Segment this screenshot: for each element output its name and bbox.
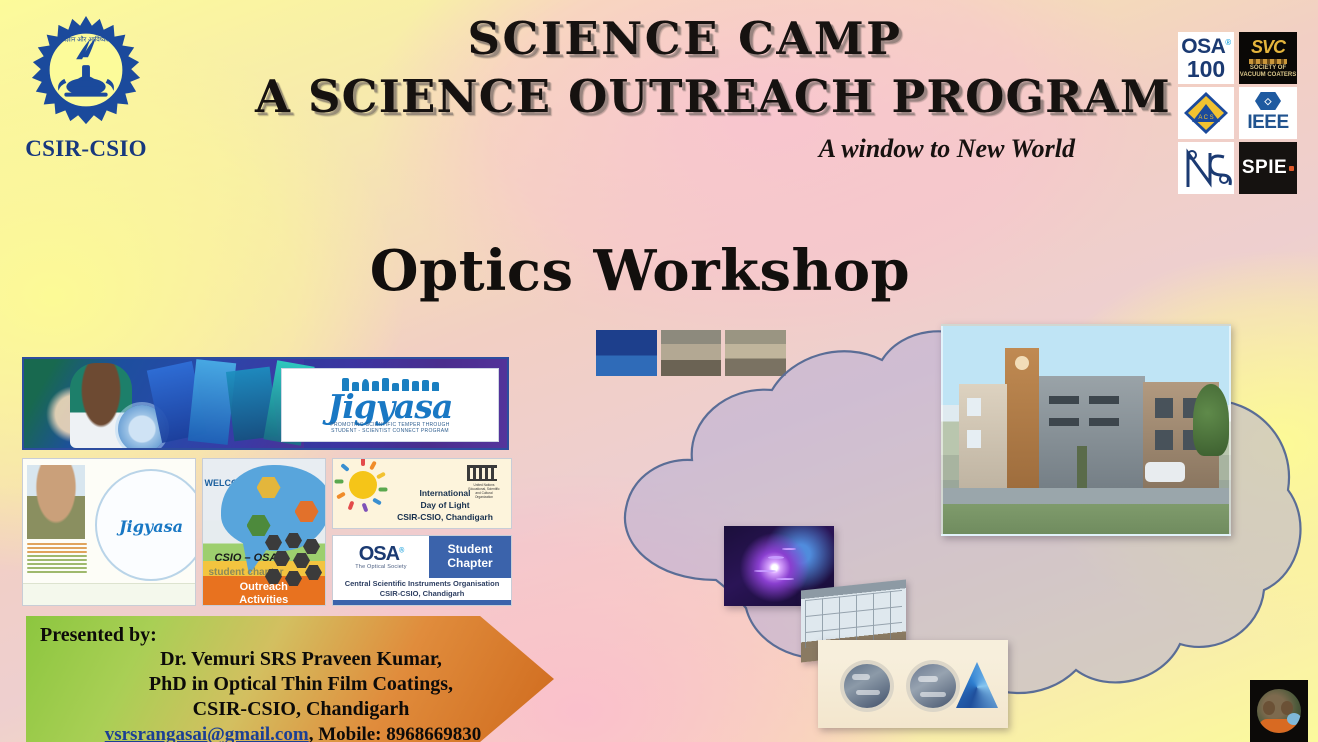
slide-canvas: CSIR INDIA विज्ञान और आविष्कार CSIR-CSIO… [0,0,1318,742]
corner-thumbnail-image [1257,689,1301,733]
presenter-mobile: , Mobile: 8968669830 [309,724,482,742]
idl-caption: International Day of Light CSIR-CSIO, Ch… [383,488,507,524]
right-tile-column: United Nations Educational, Scientific a… [332,458,512,606]
osa-student-chapter-card: OSA® The Optical Society Student Chapter… [332,535,512,606]
right-lens [906,660,960,712]
people-hex-cluster [265,533,323,589]
welcomes-vertical-label: WELCOMES [205,477,219,489]
presenter-affiliation: CSIR-CSIO, Chandigarh [40,697,540,722]
svg-text:CSIR INDIA: CSIR INDIA [67,107,104,114]
nks-logo [1178,142,1234,194]
ieee-diamond-icon: ◇ [1255,92,1281,110]
jigyasa-logo-box: Jigyasa PROMOTING SCIENTIFIC TEMPER THRO… [281,368,499,442]
collage-tiles: Jigyasa WELCOMES CSIO – OSA student chap… [22,458,512,606]
mou-footer-bar [23,583,195,605]
left-lens [840,660,894,712]
international-day-of-light-card: United Nations Educational, Scientific a… [332,458,512,529]
acs-diamond-logo: A C S [1178,87,1234,139]
dignitary-photo [27,465,85,539]
ieee-logo: ◇ IEEE [1239,87,1297,139]
mou-text-lines [27,543,87,575]
csir-csio-label: CSIR-CSIO [16,136,156,162]
presenter-contact: vsrsrangasai@gmail.com, Mobile: 89686698… [40,723,540,742]
jigyasa-mou-poster: Jigyasa [22,458,196,606]
csir-csio-gear-logo: CSIR INDIA विज्ञान और आविष्कार [27,12,145,134]
spie-logo: SPIE [1239,142,1297,194]
osa-subtitle: The Optical Society [355,564,407,570]
presented-by-label: Presented by: [40,624,540,647]
mou-jigyasa-wordmark: Jigyasa [107,517,195,536]
presenter-corner-thumbnail [1250,680,1308,742]
osa-card-top: OSA® The Optical Society Student Chapter [333,536,511,578]
science-camp-title: SCIENCE CAMP [255,16,1115,62]
left-image-collage: Jigyasa PROMOTING SCIENTIFIC TEMPER THRO… [22,357,512,606]
thought-cloud-photo-collage [596,330,1318,742]
svg-text:विज्ञान और आविष्कार: विज्ञान और आविष्कार [61,36,112,44]
svg-text:A C S: A C S [1198,115,1213,121]
jigyasa-wordmark: Jigyasa [328,391,453,422]
jigyasa-banner: Jigyasa PROMOTING SCIENTIFIC TEMPER THRO… [22,357,509,450]
presenter-email-link[interactable]: vsrsrangasai@gmail.com [105,724,309,742]
unesco-temple-icon [467,465,497,481]
svc-logo: SVC SOCIETY OF VACUUM COATERS [1239,32,1297,84]
program-title: A SCIENCE OUTREACH PROGRAM [255,74,1115,120]
svc-divider [1249,59,1287,64]
osa-brand-block: OSA® The Optical Society [333,536,429,578]
student-chapter-heading: Student Chapter [429,536,511,578]
title-block: SCIENCE CAMP A SCIENCE OUTREACH PROGRAM … [255,16,1115,164]
prism-icon [956,662,998,708]
csio-osa-outreach-poster: WELCOMES CSIO – OSA student chapter Outr… [202,458,327,606]
partner-logos: OSA® 100 SVC SOCIETY OF VACUUM COATERS A… [1178,32,1304,194]
presenter-name: Dr. Vemuri SRS Praveen Kumar, [40,647,540,672]
spie-dot-icon [1289,166,1294,171]
sun-icon [349,471,377,499]
osa-100-logo: OSA® 100 [1178,32,1234,84]
osa-card-footer: Central Scientific Instruments Organisat… [333,578,511,600]
jigyasa-tagline-2: STUDENT - SCIENTIST CONNECT PROGRAM [331,428,449,434]
tagline: A window to New World [255,134,1115,164]
presenter-info-banner: Presented by: Dr. Vemuri SRS Praveen Kum… [26,616,554,742]
presenter-qualification: PhD in Optical Thin Film Coatings, [40,672,540,697]
workshop-title: Optics Workshop [0,238,1280,304]
csio-building-photo [941,324,1231,536]
csir-csio-logo-block: CSIR INDIA विज्ञान और आविष्कार CSIR-CSIO [16,12,156,162]
eyewear-lenses-photo [818,640,1008,728]
